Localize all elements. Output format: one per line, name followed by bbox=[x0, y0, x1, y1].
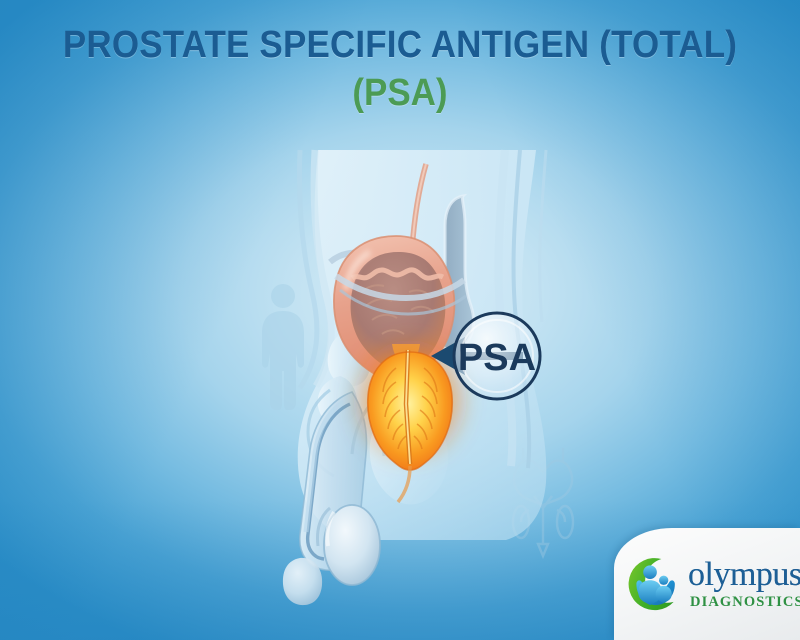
brand-logo[interactable]: olympus DIAGNOSTICS bbox=[614, 528, 800, 640]
title-line-1: PROSTATE SPECIFIC ANTIGEN (TOTAL) bbox=[32, 22, 768, 68]
logo-subbrand-text: DIAGNOSTICS bbox=[690, 595, 800, 610]
psa-callout-label: PSA bbox=[458, 337, 536, 379]
psa-callout[interactable]: PSA bbox=[454, 313, 540, 399]
psa-poster: PSA PROSTATE SPECIFIC ANTIGEN (TOTAL) (P… bbox=[0, 0, 800, 640]
male-figure-silhouette bbox=[262, 284, 304, 410]
olympus-figures-mark bbox=[624, 553, 686, 615]
title-line-2: (PSA) bbox=[32, 68, 768, 118]
logo-brand-text: olympus bbox=[688, 558, 800, 592]
poster-title: PROSTATE SPECIFIC ANTIGEN (TOTAL) (PSA) bbox=[0, 22, 800, 118]
